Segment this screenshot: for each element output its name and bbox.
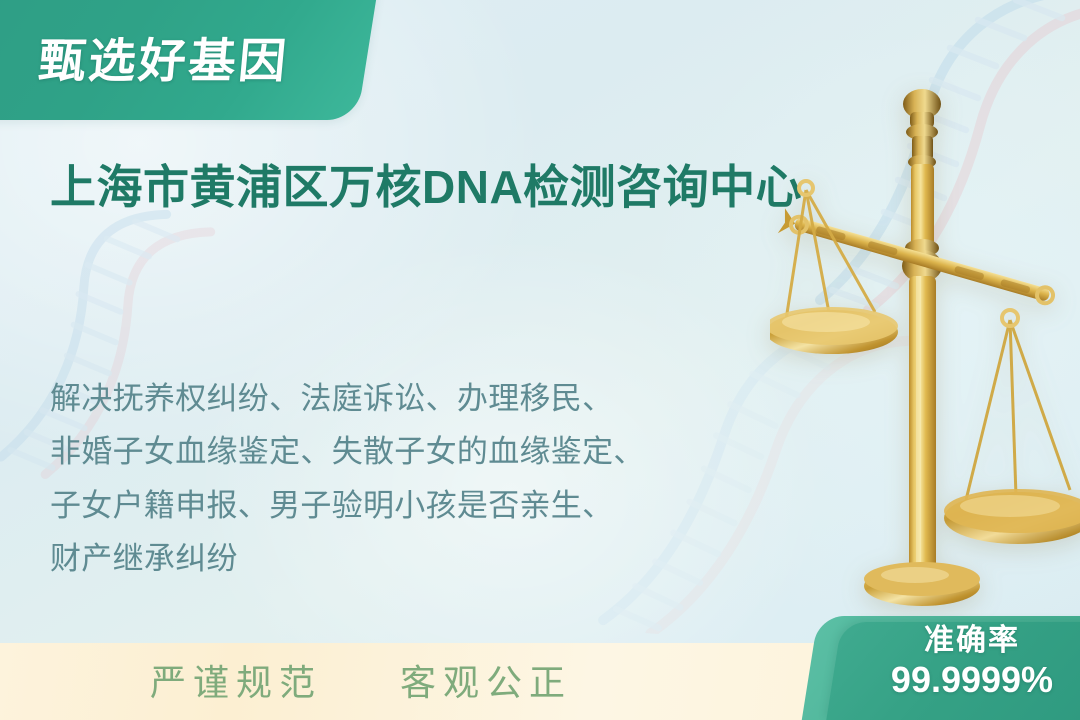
badge-text: 准确率 99.9999% bbox=[852, 624, 1080, 700]
slogan-item: 客观公正 bbox=[400, 654, 572, 706]
description-line: 财产继承纠纷 bbox=[50, 532, 750, 585]
slogan-item: 严谨规范 bbox=[150, 654, 322, 706]
description-line: 解决抚养权纠纷、法庭诉讼、办理移民、 bbox=[50, 372, 750, 425]
accuracy-badge: 准确率 99.9999% bbox=[800, 608, 1080, 720]
slogan-group: 严谨规范 客观公正 bbox=[150, 654, 572, 706]
description-line: 非婚子女血缘鉴定、失散子女的血缘鉴定、 bbox=[50, 425, 750, 478]
balance-scale-icon bbox=[770, 70, 1080, 650]
description-line: 子女户籍申报、男子验明小孩是否亲生、 bbox=[50, 479, 750, 532]
service-description: 解决抚养权纠纷、法庭诉讼、办理移民、 非婚子女血缘鉴定、失散子女的血缘鉴定、 子… bbox=[50, 372, 750, 585]
logo-text: 甄选好基因 bbox=[29, 22, 290, 91]
badge-label: 准确率 bbox=[852, 624, 1080, 659]
promo-banner: 甄选好基因 上海市黄浦区万核DNA检测咨询中心 解决抚养权纠纷、法庭诉讼、办理移… bbox=[0, 0, 1080, 720]
dna-helix-icon bbox=[810, 0, 1080, 310]
badge-value: 99.9999% bbox=[852, 660, 1080, 700]
page-title: 上海市黄浦区万核DNA检测咨询中心 bbox=[50, 158, 840, 218]
